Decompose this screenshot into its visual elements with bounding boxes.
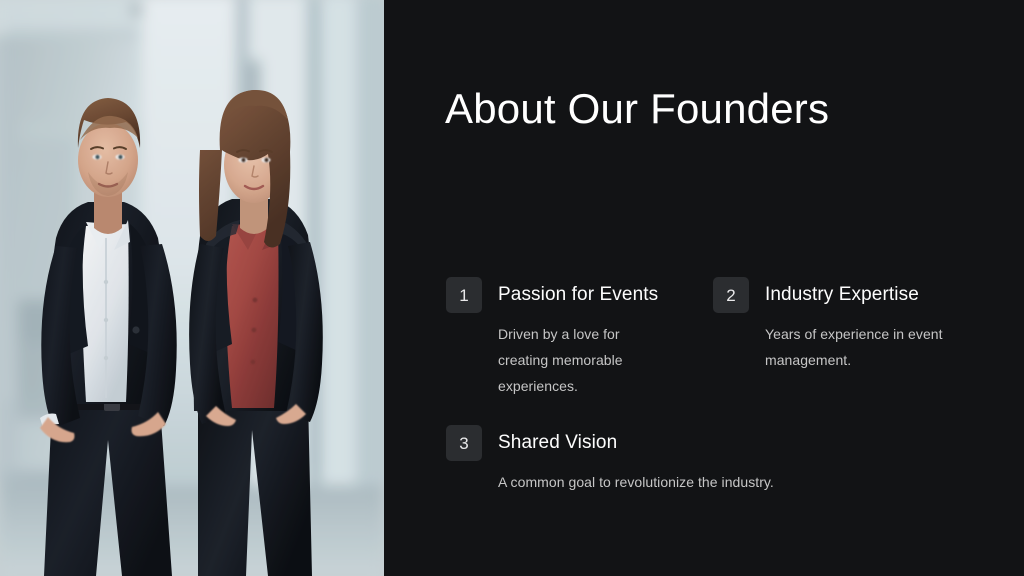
feature-2-title: Industry Expertise xyxy=(765,277,919,313)
feature-item-3[interactable]: 3 Shared Vision A common goal to revolut… xyxy=(446,425,858,495)
feature-1-title: Passion for Events xyxy=(498,277,658,313)
feature-2-description: Years of experience in event management. xyxy=(765,321,950,373)
slide-root: About Our Founders 1 Passion for Events … xyxy=(0,0,1024,576)
founders-photo-illustration xyxy=(0,0,384,576)
page-title: About Our Founders xyxy=(445,86,829,132)
feature-item-2[interactable]: 2 Industry Expertise Years of experience… xyxy=(713,277,950,373)
founders-photo xyxy=(0,0,384,576)
feature-2-number-badge: 2 xyxy=(713,277,749,313)
feature-1-head: 1 Passion for Events xyxy=(446,277,658,313)
feature-1-number-badge: 1 xyxy=(446,277,482,313)
feature-3-number-badge: 3 xyxy=(446,425,482,461)
feature-item-1[interactable]: 1 Passion for Events Driven by a love fo… xyxy=(446,277,658,399)
content-panel: About Our Founders 1 Passion for Events … xyxy=(384,0,1024,576)
feature-3-description: A common goal to revolutionize the indus… xyxy=(498,469,858,495)
feature-1-description: Driven by a love for creating memorable … xyxy=(498,321,656,399)
feature-2-head: 2 Industry Expertise xyxy=(713,277,950,313)
feature-3-head: 3 Shared Vision xyxy=(446,425,858,461)
feature-3-title: Shared Vision xyxy=(498,425,617,461)
